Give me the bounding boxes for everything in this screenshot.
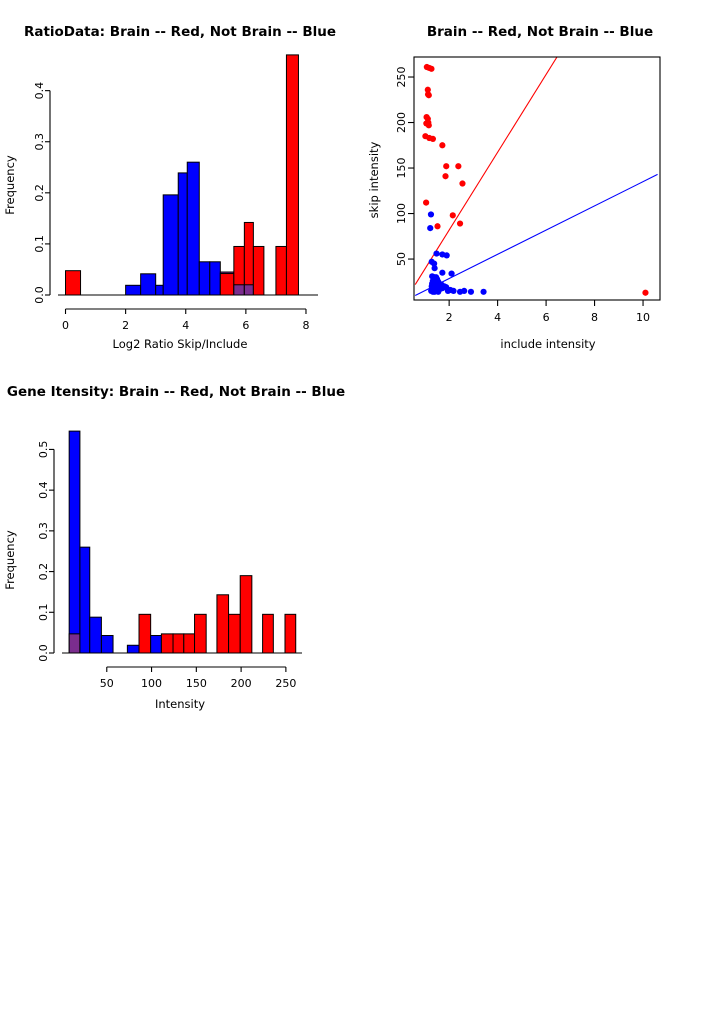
x-axis-tick-label: 50 — [100, 677, 114, 690]
histogram-bar — [244, 285, 253, 295]
histogram-bar — [163, 195, 178, 295]
scatter-point — [448, 271, 454, 277]
x-axis-tick-label: 4 — [494, 311, 501, 324]
histogram-bar — [127, 645, 139, 653]
gene-intensity-histogram-bars — [69, 431, 296, 653]
intensity-scatter-svg: Brain -- Red, Not Brain -- Blue 50100150… — [360, 0, 720, 360]
histogram-bar — [69, 431, 80, 653]
scatter-inner — [415, 57, 657, 296]
scatter-point — [426, 92, 432, 98]
y-axis-tick-label: 0.4 — [33, 82, 46, 100]
histogram-bar — [195, 614, 207, 653]
y-axis-tick-label: 200 — [395, 112, 408, 133]
histogram-bar — [161, 634, 173, 653]
histogram-bar — [141, 274, 156, 295]
x-axis-tick-label: 4 — [182, 319, 189, 332]
intensity-scatter-ylabel: skip intensity — [367, 141, 381, 218]
y-axis-tick-label: 0.1 — [33, 235, 46, 253]
intensity-scatter-panel: Brain -- Red, Not Brain -- Blue 50100150… — [360, 0, 720, 360]
histogram-bar — [285, 614, 296, 653]
ratio-histogram-ylabel: Frequency — [3, 155, 17, 215]
histogram-bar — [240, 576, 252, 653]
y-axis-tick-label: 0.0 — [33, 286, 46, 304]
x-axis-tick-label: 200 — [231, 677, 252, 690]
histogram-bar — [276, 246, 287, 295]
histogram-bar — [156, 285, 164, 295]
x-axis-tick-label: 2 — [122, 319, 129, 332]
gene-intensity-histogram-panel: Gene Itensity: Brain -- Red, Not Brain -… — [0, 360, 360, 720]
histogram-bar — [217, 595, 229, 653]
histogram-bar — [101, 635, 113, 653]
histogram-bar — [199, 262, 210, 295]
y-axis-tick-label: 150 — [395, 158, 408, 179]
y-axis-tick-label: 0.1 — [37, 604, 50, 622]
ratio-histogram-bars — [66, 55, 299, 295]
x-axis-tick-label: 10 — [636, 311, 650, 324]
ratio-histogram-xlabel: Log2 Ratio Skip/Include — [113, 337, 248, 351]
scatter-point — [450, 212, 456, 218]
scatter-point — [468, 289, 474, 295]
x-axis-tick-label: 6 — [242, 319, 249, 332]
scatter-point — [443, 163, 449, 169]
x-axis-tick-label: 150 — [186, 677, 207, 690]
histogram-bar — [69, 634, 80, 653]
info-panel-container: G7023842@J928818_RC@j_at altTxStart Madd… — [360, 360, 720, 720]
histogram-bar — [80, 547, 90, 653]
x-axis-tick-label: 8 — [591, 311, 598, 324]
scatter-point — [439, 142, 445, 148]
y-axis-tick-label: 250 — [395, 67, 408, 88]
regression-line — [415, 57, 557, 285]
scatter-point — [442, 173, 448, 179]
histogram-bar — [263, 614, 274, 653]
histogram-bar — [173, 634, 184, 653]
scatter-point — [433, 250, 439, 256]
intensity-scatter-xlabel: include intensity — [500, 337, 595, 351]
scatter-point — [428, 211, 434, 217]
histogram-bar — [139, 614, 151, 653]
x-axis-tick-label: 100 — [141, 677, 162, 690]
histogram-bar — [66, 271, 81, 295]
scatter-point — [428, 66, 434, 72]
histogram-bar — [178, 173, 187, 295]
scatter-point — [427, 225, 433, 231]
scatter-point — [434, 223, 440, 229]
x-axis-tick-label: 8 — [302, 319, 309, 332]
y-axis-tick-label: 0.2 — [37, 563, 50, 581]
y-axis-tick-label: 100 — [395, 203, 408, 224]
x-axis-tick-label: 250 — [275, 677, 296, 690]
intensity-scatter-points — [415, 57, 657, 296]
plot-box — [414, 57, 660, 300]
histogram-bar — [220, 274, 234, 295]
x-axis-tick-label: 6 — [543, 311, 550, 324]
histogram-bar — [229, 614, 241, 653]
scatter-point — [461, 288, 467, 294]
histogram-bar — [286, 55, 298, 295]
scatter-point — [455, 163, 461, 169]
scatter-point — [423, 200, 429, 206]
scatter-point — [457, 220, 463, 226]
histogram-bar — [253, 246, 264, 295]
gene-intensity-histogram-xlabel: Intensity — [155, 697, 205, 711]
ratio-histogram-svg: RatioData: Brain -- Red, Not Brain -- Bl… — [0, 0, 360, 360]
histogram-bar — [234, 285, 245, 295]
ratio-histogram-panel: RatioData: Brain -- Red, Not Brain -- Bl… — [0, 0, 360, 360]
y-axis-tick-label: 0.3 — [37, 522, 50, 540]
scatter-point — [426, 122, 432, 128]
histogram-bar — [187, 162, 199, 295]
scatter-point — [432, 265, 438, 271]
y-axis-tick-label: 0.5 — [37, 441, 50, 459]
intensity-scatter-title: Brain -- Red, Not Brain -- Blue — [427, 24, 653, 40]
plot-grid: RatioData: Brain -- Red, Not Brain -- Bl… — [0, 0, 720, 720]
y-axis-tick-label: 0.0 — [37, 644, 50, 662]
scatter-point — [480, 289, 486, 295]
histogram-bar — [90, 617, 102, 653]
regression-line — [415, 174, 657, 295]
ratio-histogram-title: RatioData: Brain -- Red, Not Brain -- Bl… — [24, 24, 336, 40]
y-axis-tick-label: 50 — [395, 252, 408, 266]
scatter-point — [444, 252, 450, 258]
x-axis-tick-label: 2 — [446, 311, 453, 324]
y-axis-tick-label: 0.3 — [33, 133, 46, 151]
y-axis-tick-label: 0.2 — [33, 184, 46, 202]
histogram-bar — [184, 634, 195, 653]
scatter-point — [439, 270, 445, 276]
y-axis-tick-label: 0.4 — [37, 481, 50, 499]
histogram-bar — [126, 285, 141, 295]
histogram-bar — [244, 222, 253, 295]
histogram-bar — [151, 635, 162, 653]
scatter-point — [430, 136, 436, 142]
scatter-point — [642, 290, 648, 296]
scatter-point — [450, 288, 456, 294]
gene-intensity-histogram-svg: Gene Itensity: Brain -- Red, Not Brain -… — [0, 360, 360, 720]
x-axis-tick-label: 0 — [62, 319, 69, 332]
gene-intensity-histogram-ylabel: Frequency — [3, 530, 17, 590]
gene-intensity-histogram-title: Gene Itensity: Brain -- Red, Not Brain -… — [7, 384, 345, 400]
scatter-point — [459, 180, 465, 186]
histogram-bar — [210, 262, 221, 295]
